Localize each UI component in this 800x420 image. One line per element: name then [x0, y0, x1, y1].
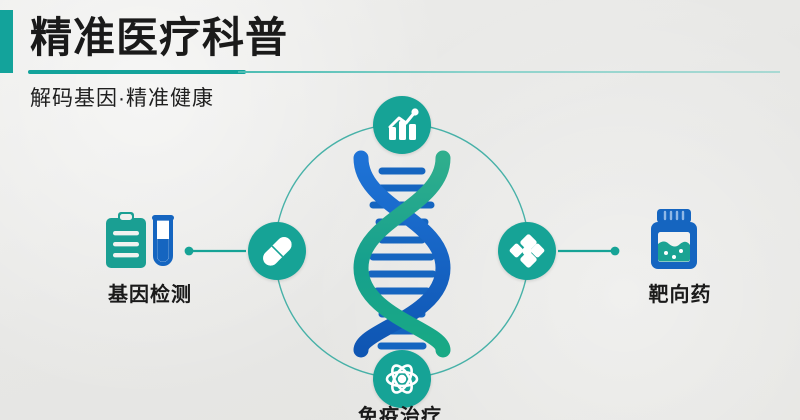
hub-analytics[interactable]	[373, 96, 431, 154]
node-label-genetic-testing: 基因检测	[60, 278, 240, 307]
hub-medication[interactable]	[248, 222, 306, 280]
clipboard-test-tube-icon	[100, 208, 184, 277]
capsule-pill-icon	[248, 222, 306, 280]
infographic-diagram: 基因检测 靶向药 免疫治疗	[0, 0, 800, 420]
molecule-network-icon	[498, 222, 556, 280]
connector-left-dot	[185, 247, 194, 256]
dna-double-helix-icon	[327, 144, 477, 359]
node-label-targeted-drug: 靶向药	[590, 278, 770, 307]
slide-canvas: 精准医疗科普 解码基因·精准健康	[0, 0, 800, 420]
node-label-immunotherapy: 免疫治疗	[312, 400, 488, 420]
hub-molecule[interactable]	[498, 222, 556, 280]
test-tube-liquid	[157, 239, 169, 262]
bottle-cap	[657, 209, 691, 223]
bar-chart-trend-icon	[373, 96, 431, 154]
connector-right-dot	[611, 247, 620, 256]
pill-bottle-icon	[638, 204, 710, 279]
